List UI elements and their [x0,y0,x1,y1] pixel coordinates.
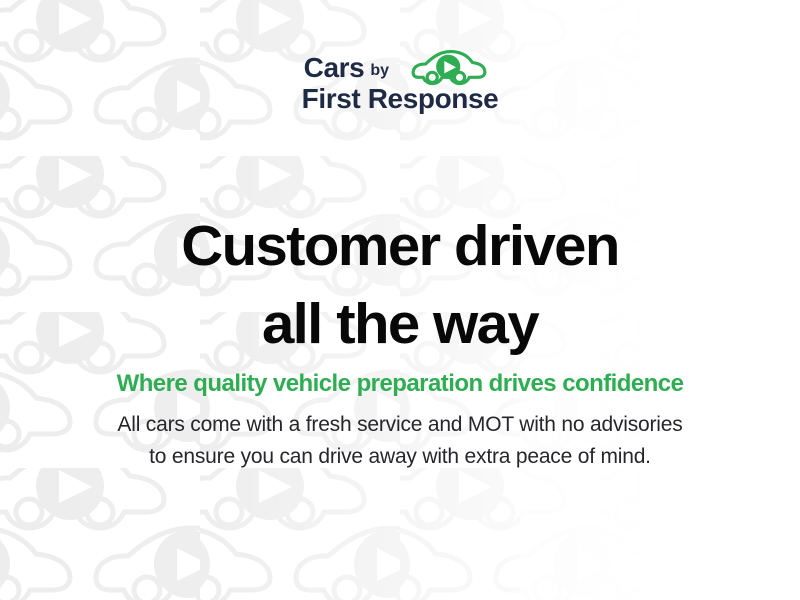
brand-logo-word-first-response: First Response [302,84,499,114]
hero-headline-line-1: Customer driven [0,207,800,285]
brand-logo-word-cars: Cars [304,54,365,82]
hero-headline-line-2: all the way [0,285,800,363]
promo-banner: Cars by First Response Custo [0,0,800,600]
banner-content: Cars by First Response Custo [0,0,800,600]
brand-logo-word-by: by [370,61,389,82]
hero-body-line-1: All cars come with a fresh service and M… [0,409,800,441]
hero-headline: Customer driven all the way [0,207,800,363]
hero-body-copy: All cars come with a fresh service and M… [0,409,800,473]
hero-body-line-2: to ensure you can drive away with extra … [0,441,800,473]
brand-logo-lockup: Cars by First Response [302,52,499,114]
car-play-logo-icon [410,46,488,88]
brand-logo[interactable]: Cars by First Response [0,52,800,114]
hero-subheading: Where quality vehicle preparation drives… [0,369,800,399]
